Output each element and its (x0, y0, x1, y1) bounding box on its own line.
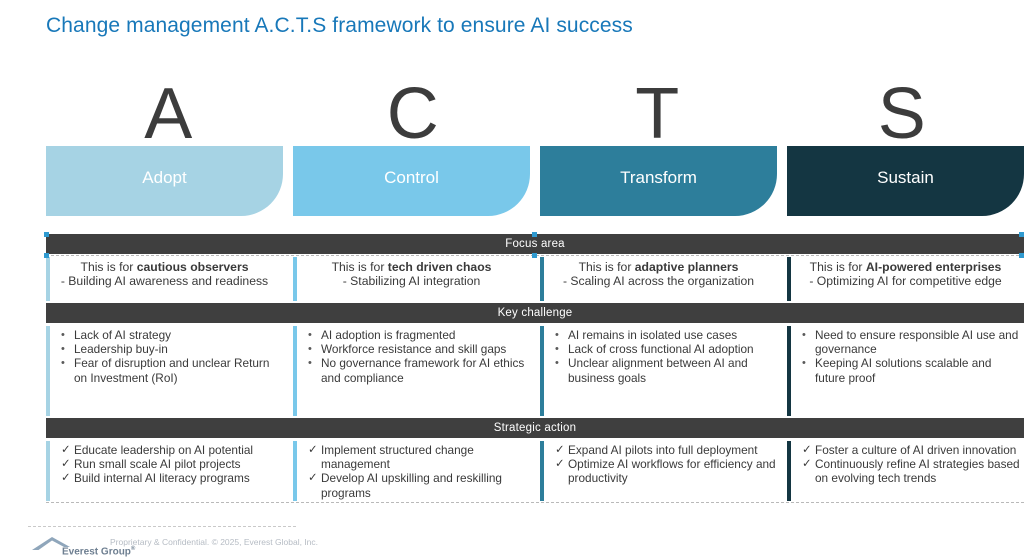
column-accent-bar (540, 326, 544, 416)
focus-lead-text: This is for (579, 260, 635, 274)
list-item-label: Fear of disruption and unclear Return on… (74, 356, 269, 384)
check-icon: ✓ (555, 457, 565, 471)
check-icon: ✓ (308, 471, 318, 485)
pillar-header-label: Transform (620, 168, 697, 188)
focus-area-lead: This is for adaptive planners (546, 260, 771, 274)
focus-area-sub: - Stabilizing AI integration (299, 274, 524, 288)
list-item-label: Implement structured change management (321, 443, 474, 471)
bullet-icon: • (308, 328, 312, 342)
strategic-action-list: ✓Expand AI pilots into full deployment✓O… (554, 441, 777, 486)
focus-area-lead: This is for tech driven chaos (299, 260, 524, 274)
acts-letters-row: A C T S (46, 66, 1024, 148)
list-item-label: Expand AI pilots into full deployment (568, 443, 758, 457)
band-strategic-action: Strategic action (46, 418, 1024, 438)
strategic-action-list: ✓Implement structured change management✓… (307, 441, 530, 500)
column-accent-bar (46, 441, 50, 501)
list-item-label: Need to ensure responsible AI use and go… (815, 328, 1018, 356)
list-item-label: Develop AI upskilling and reskilling pro… (321, 471, 502, 499)
acts-letter-t: T (535, 66, 780, 148)
logo-wordmark: Everest Group (62, 546, 131, 557)
selection-handle[interactable] (532, 232, 537, 237)
list-item-label: Continuously refine AI strategies based … (815, 457, 1020, 485)
pillar-header-label: Sustain (877, 168, 934, 188)
focus-area-cell-control: This is for tech driven chaos - Stabiliz… (293, 257, 530, 301)
column-accent-bar (540, 441, 544, 501)
bullet-icon: • (61, 328, 65, 342)
key-challenge-row: •Lack of AI strategy•Leadership buy-in•F… (46, 326, 1024, 416)
pillar-header-label: Control (384, 168, 439, 188)
list-item-label: AI adoption is fragmented (321, 328, 455, 342)
key-challenge-cell-adopt: •Lack of AI strategy•Leadership buy-in•F… (46, 326, 283, 416)
slide-canvas: Change management A.C.T.S framework to e… (0, 0, 1024, 556)
focus-bold-text: cautious observers (137, 260, 249, 274)
strategic-action-cell-adopt: ✓Educate leadership on AI potential✓Run … (46, 441, 283, 501)
check-icon: ✓ (61, 471, 71, 485)
list-item: •Unclear alignment between AI and busine… (554, 356, 777, 384)
bullet-icon: • (308, 356, 312, 370)
strategic-action-cell-control: ✓Implement structured change management✓… (293, 441, 530, 501)
list-item: ✓Foster a culture of AI driven innovatio… (801, 443, 1024, 457)
list-item-label: Educate leadership on AI potential (74, 443, 253, 457)
column-accent-bar (293, 326, 297, 416)
list-item: •AI adoption is fragmented (307, 328, 530, 342)
column-accent-bar (46, 326, 50, 416)
list-item: •Fear of disruption and unclear Return o… (60, 356, 283, 384)
column-accent-bar (293, 441, 297, 501)
list-item-label: No governance framework for AI ethics an… (321, 356, 524, 384)
focus-area-sub: - Scaling AI across the organization (546, 274, 771, 288)
bullet-icon: • (61, 342, 65, 356)
key-challenge-cell-sustain: •Need to ensure responsible AI use and g… (787, 326, 1024, 416)
list-item: ✓Expand AI pilots into full deployment (554, 443, 777, 457)
key-challenge-cell-control: •AI adoption is fragmented•Workforce res… (293, 326, 530, 416)
pillar-header-control[interactable]: Control (293, 146, 530, 216)
list-item-label: Unclear alignment between AI and busines… (568, 356, 748, 384)
pillar-header-row: Adopt Control Transform Sustain (46, 146, 1024, 216)
focus-bold-text: adaptive planners (635, 260, 739, 274)
list-item-label: Optimize AI workflows for efficiency and… (568, 457, 776, 485)
list-item-label: AI remains in isolated use cases (568, 328, 737, 342)
list-item: ✓Continuously refine AI strategies based… (801, 457, 1024, 485)
selection-handle[interactable] (1019, 253, 1024, 258)
key-challenge-list: •Need to ensure responsible AI use and g… (801, 326, 1024, 385)
bullet-icon: • (555, 328, 559, 342)
selection-handle[interactable] (1019, 232, 1024, 237)
focus-area-sub: - Building AI awareness and readiness (52, 274, 277, 288)
check-icon: ✓ (61, 457, 71, 471)
strategic-action-row: ✓Educate leadership on AI potential✓Run … (46, 441, 1024, 501)
list-item-label: Build internal AI literacy programs (74, 471, 250, 485)
column-accent-bar (787, 257, 791, 301)
selection-handle[interactable] (44, 253, 49, 258)
pillar-header-transform[interactable]: Transform (540, 146, 777, 216)
focus-area-lead: This is for cautious observers (52, 260, 277, 274)
list-item-label: Lack of AI strategy (74, 328, 171, 342)
pillar-header-label: Adopt (142, 168, 186, 188)
everest-group-logo-text: Everest Group® (62, 546, 135, 557)
check-icon: ✓ (61, 443, 71, 457)
check-icon: ✓ (555, 443, 565, 457)
list-item: •Need to ensure responsible AI use and g… (801, 328, 1024, 356)
list-item: •No governance framework for AI ethics a… (307, 356, 530, 384)
list-item: •Keeping AI solutions scalable and futur… (801, 356, 1024, 384)
slide-footer: Everest Group® Proprietary & Confidentia… (0, 526, 1024, 556)
bullet-icon: • (555, 342, 559, 356)
focus-bold-text: tech driven chaos (388, 260, 492, 274)
footer-divider (28, 526, 296, 527)
acts-letter-s: S (780, 66, 1024, 148)
column-accent-bar (787, 441, 791, 501)
strategic-action-cell-sustain: ✓Foster a culture of AI driven innovatio… (787, 441, 1024, 501)
list-item: •Leadership buy-in (60, 342, 283, 356)
bullet-icon: • (308, 342, 312, 356)
focus-area-lead: This is for AI-powered enterprises (793, 260, 1018, 274)
list-item-label: Workforce resistance and skill gaps (321, 342, 506, 356)
focus-lead-text: This is for (81, 260, 137, 274)
list-item: ✓Optimize AI workflows for efficiency an… (554, 457, 777, 485)
list-item-label: Lack of cross functional AI adoption (568, 342, 754, 356)
acts-letter-c: C (291, 66, 536, 148)
focus-lead-text: This is for (810, 260, 866, 274)
list-item-label: Run small scale AI pilot projects (74, 457, 241, 471)
band-focus-area: Focus area (46, 234, 1024, 254)
bullet-icon: • (802, 328, 806, 342)
check-icon: ✓ (802, 443, 812, 457)
list-item-label: Keeping AI solutions scalable and future… (815, 356, 991, 384)
pillar-header-sustain[interactable]: Sustain (787, 146, 1024, 216)
strategic-action-list: ✓Foster a culture of AI driven innovatio… (801, 441, 1024, 486)
list-item: ✓Run small scale AI pilot projects (60, 457, 283, 471)
key-challenge-list: •AI adoption is fragmented•Workforce res… (307, 326, 530, 385)
focus-area-cell-sustain: This is for AI-powered enterprises - Opt… (787, 257, 1024, 301)
focus-bold-text: AI-powered enterprises (866, 260, 1001, 274)
selection-handle[interactable] (44, 232, 49, 237)
focus-area-sub: - Optimizing AI for competitive edge (793, 274, 1018, 288)
column-accent-bar (787, 326, 791, 416)
page-title: Change management A.C.T.S framework to e… (46, 14, 633, 38)
strategic-action-cell-transform: ✓Expand AI pilots into full deployment✓O… (540, 441, 777, 501)
focus-area-cell-transform: This is for adaptive planners - Scaling … (540, 257, 777, 301)
check-icon: ✓ (308, 443, 318, 457)
list-item: •Lack of cross functional AI adoption (554, 342, 777, 356)
band-key-challenge: Key challenge (46, 303, 1024, 323)
key-challenge-cell-transform: •AI remains in isolated use cases•Lack o… (540, 326, 777, 416)
list-item-label: Leadership buy-in (74, 342, 168, 356)
list-item: •AI remains in isolated use cases (554, 328, 777, 342)
list-item: ✓Build internal AI literacy programs (60, 471, 283, 485)
selection-handle[interactable] (532, 253, 537, 258)
focus-area-row: This is for cautious observers - Buildin… (46, 257, 1024, 301)
selection-dashed-guide-bottom (46, 502, 1024, 503)
list-item: •Lack of AI strategy (60, 328, 283, 342)
column-accent-bar (46, 257, 50, 301)
list-item: ✓Develop AI upskilling and reskilling pr… (307, 471, 530, 499)
list-item: ✓Educate leadership on AI potential (60, 443, 283, 457)
key-challenge-list: •Lack of AI strategy•Leadership buy-in•F… (60, 326, 283, 385)
column-accent-bar (293, 257, 297, 301)
check-icon: ✓ (802, 457, 812, 471)
pillar-header-adopt[interactable]: Adopt (46, 146, 283, 216)
copyright-notice: Proprietary & Confidential. © 2025, Ever… (110, 537, 318, 547)
key-challenge-list: •AI remains in isolated use cases•Lack o… (554, 326, 777, 385)
strategic-action-list: ✓Educate leadership on AI potential✓Run … (60, 441, 283, 486)
column-accent-bar (540, 257, 544, 301)
bullet-icon: • (802, 356, 806, 370)
focus-lead-text: This is for (332, 260, 388, 274)
list-item: ✓Implement structured change management (307, 443, 530, 471)
acts-letter-a: A (46, 66, 291, 148)
focus-area-cell-adopt: This is for cautious observers - Buildin… (46, 257, 283, 301)
bullet-icon: • (61, 356, 65, 370)
bullet-icon: • (555, 356, 559, 370)
list-item: •Workforce resistance and skill gaps (307, 342, 530, 356)
list-item-label: Foster a culture of AI driven innovation (815, 443, 1016, 457)
